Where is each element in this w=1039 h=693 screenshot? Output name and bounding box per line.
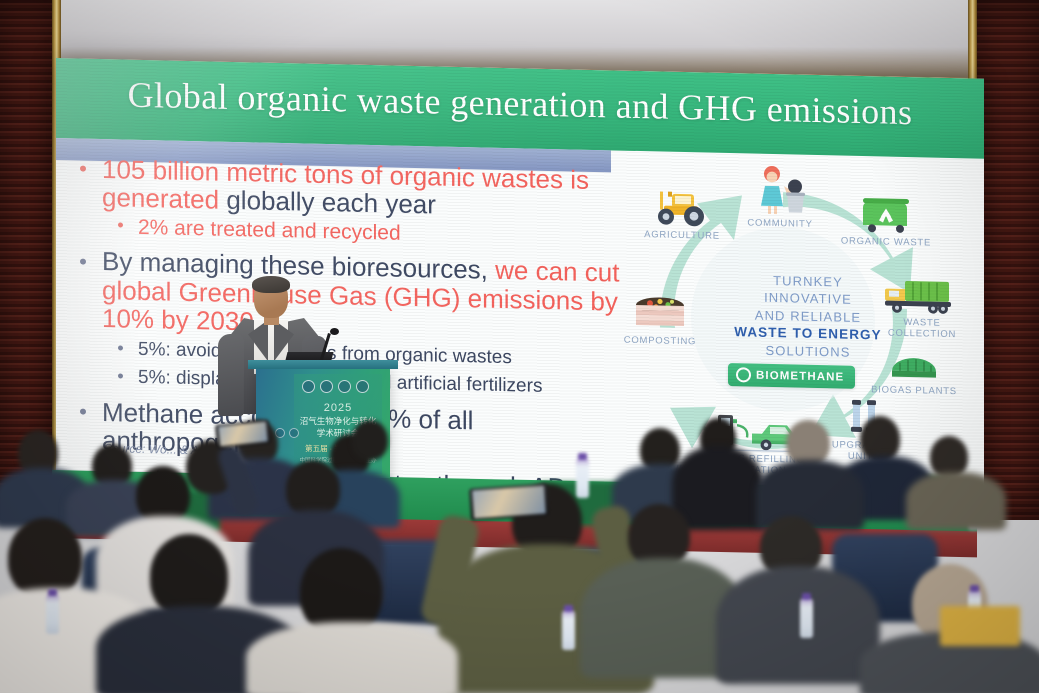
compost-pile-icon bbox=[614, 290, 706, 334]
podium-top bbox=[248, 360, 398, 369]
node-label: AGRICULTURE bbox=[636, 229, 728, 242]
person-bin-icon bbox=[734, 163, 826, 217]
garbage-truck-icon bbox=[876, 272, 968, 316]
node-biogas-plants: BIOGAS PLANTS bbox=[868, 340, 960, 397]
ring-icon bbox=[736, 367, 751, 382]
audience bbox=[0, 398, 1039, 693]
node-agriculture: AGRICULTURE bbox=[636, 185, 728, 242]
tractor-icon bbox=[636, 185, 728, 229]
podium-logo-icons bbox=[302, 380, 369, 393]
recycle-bin-icon bbox=[840, 192, 932, 236]
badge-label: BIOMETHANE bbox=[756, 369, 844, 383]
node-label: BIOGAS PLANTS bbox=[868, 384, 960, 397]
node-organic-waste: ORGANIC WASTE bbox=[840, 192, 932, 249]
microphone-head bbox=[330, 328, 339, 335]
node-community: COMMUNITY bbox=[734, 163, 826, 230]
bullet-item: By managing these bioresources, we can c… bbox=[66, 246, 626, 343]
bullet-item: 105 billion metric tons of organic waste… bbox=[66, 154, 626, 223]
node-label: WASTE COLLECTION bbox=[876, 316, 968, 340]
diagram-center-text: TURNKEY INNOVATIVE AND RELIABLE WASTE TO… bbox=[728, 271, 888, 362]
node-label: COMPOSTING bbox=[614, 334, 706, 347]
node-composting: COMPOSTING bbox=[614, 290, 706, 347]
node-label: COMMUNITY bbox=[734, 217, 826, 230]
node-label: ORGANIC WASTE bbox=[840, 236, 932, 249]
node-waste-collection: WASTE COLLECTION bbox=[876, 272, 968, 340]
biomethane-badge: BIOMETHANE bbox=[728, 363, 855, 389]
conference-photo: Global organic waste generation and GHG … bbox=[0, 0, 1039, 693]
digester-icon bbox=[868, 340, 960, 384]
